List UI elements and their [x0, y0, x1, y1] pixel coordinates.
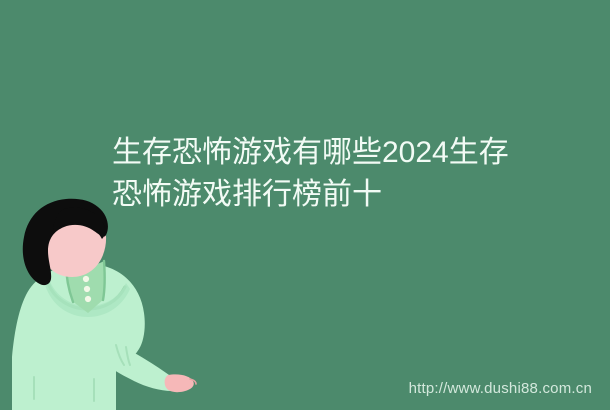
hand — [165, 374, 194, 392]
page-title: 生存恐怖游戏有哪些2024生存恐怖游戏排行榜前十 — [112, 132, 532, 216]
collar-button-3 — [85, 296, 91, 302]
banner-image: 生存恐怖游戏有哪些2024生存恐怖游戏排行榜前十 http://www.dush… — [0, 0, 610, 410]
collar-button-2 — [84, 286, 90, 292]
person-illustration-svg — [8, 195, 208, 410]
collar-button-1 — [83, 276, 89, 282]
person-illustration — [8, 195, 208, 410]
site-watermark: http://www.dushi88.com.cn — [409, 380, 592, 398]
